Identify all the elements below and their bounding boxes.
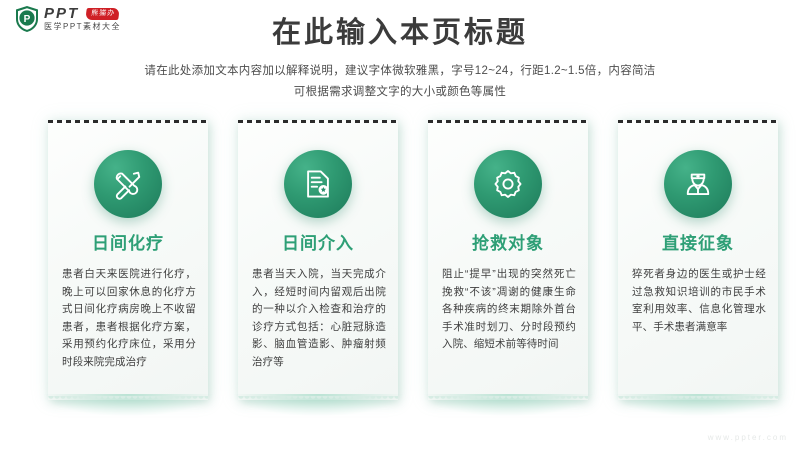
card-top-dashed-rule [48,120,208,123]
gear-icon [474,150,542,218]
tools-icon [94,150,162,218]
card-bottom-scallop [238,391,398,400]
card-top-dashed-rule [618,120,778,123]
card-title: 日间介入 [238,234,398,254]
page-title: 在此输入本页标题 [0,16,800,50]
slide-root: P PPT 熊猫办 医学PPT素材大全 在此输入本页标题 请在此处添加文本内容加… [0,0,800,450]
certificate-icon [284,150,352,218]
card-surface: 日间介入 患者当天入院，当天完成介入，经短时间内留观后出院的一种以介入检查和治疗… [238,120,398,400]
card-description: 患者白天来医院进行化疗，晚上可以回家休息的化疗方式日间化疗病房晚上不收留患者，患… [62,266,196,371]
card-top-dashed-rule [238,120,398,123]
watermark: www.ppter.com [708,433,788,442]
card-description: 猝死者身边的医生或护士经过急救知识培训的市民手术室利用效率、信息化管理水平、手术… [632,266,766,336]
card-item[interactable]: 抢救对象 阻止“提早”出现的突然死亡挽救“不该”凋谢的健康生命各种疾病的终末期除… [428,120,588,410]
card-row: 日间化疗 患者白天来医院进行化疗，晚上可以回家休息的化疗方式日间化疗病房晚上不收… [48,120,778,410]
card-title: 日间化疗 [48,234,208,254]
card-surface: 直接征象 猝死者身边的医生或护士经过急救知识培训的市民手术室利用效率、信息化管理… [618,120,778,400]
subtitle-line-1: 请在此处添加文本内容加以解释说明，建议字体微软雅黑，字号12~24，行距1.2~… [0,61,800,82]
card-item[interactable]: 日间化疗 患者白天来医院进行化疗，晚上可以回家休息的化疗方式日间化疗病房晚上不收… [48,120,208,410]
card-bottom-scallop [48,391,208,400]
card-title: 直接征象 [618,234,778,254]
doctor-icon [664,150,732,218]
card-bottom-scallop [618,391,778,400]
card-item[interactable]: 直接征象 猝死者身边的医生或护士经过急救知识培训的市民手术室利用效率、信息化管理… [618,120,778,410]
subtitle-line-2: 可根据需求调整文字的大小或颜色等属性 [0,82,800,103]
card-top-dashed-rule [428,120,588,123]
card-title: 抢救对象 [428,234,588,254]
card-bottom-scallop [428,391,588,400]
card-description: 阻止“提早”出现的突然死亡挽救“不该”凋谢的健康生命各种疾病的终末期除外首台手术… [442,266,576,354]
card-item[interactable]: 日间介入 患者当天入院，当天完成介入，经短时间内留观后出院的一种以介入检查和治疗… [238,120,398,410]
card-surface: 抢救对象 阻止“提早”出现的突然死亡挽救“不该”凋谢的健康生命各种疾病的终末期除… [428,120,588,400]
page-subtitle: 请在此处添加文本内容加以解释说明，建议字体微软雅黑，字号12~24，行距1.2~… [0,61,800,103]
card-surface: 日间化疗 患者白天来医院进行化疗，晚上可以回家休息的化疗方式日间化疗病房晚上不收… [48,120,208,400]
card-description: 患者当天入院，当天完成介入，经短时间内留观后出院的一种以介入检查和治疗的诊疗方式… [252,266,386,371]
